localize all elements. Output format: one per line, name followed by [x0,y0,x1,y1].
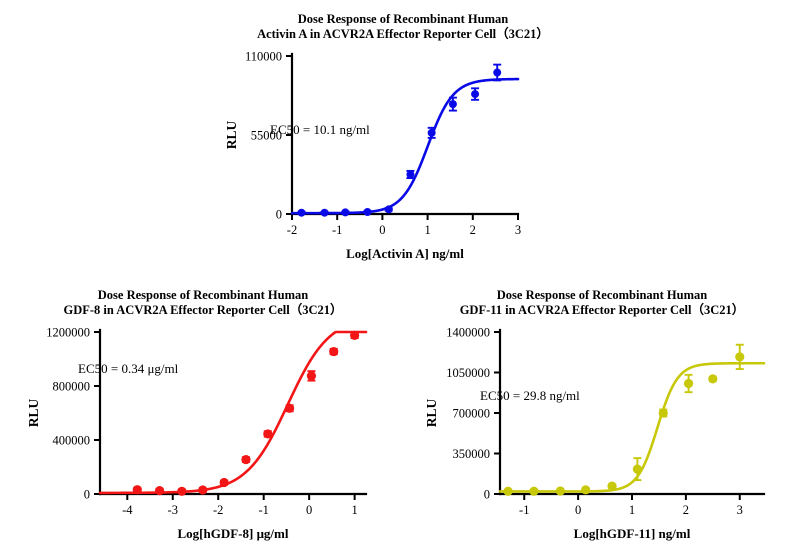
x-tick-label: -4 [122,503,133,517]
data-point [529,487,538,496]
plot-activin-a: 055000110000-2-10123Log[Activin A] ng/ml… [218,42,588,262]
data-point [155,486,164,495]
x-tick-label: 1 [352,503,358,517]
ec50-annotation: EC50 = 10.1 ng/ml [270,122,370,137]
title-line-2: Activin A in ACVR2A Effector Reporter Ce… [218,27,588,42]
title-line-2: GDF-11 in ACVR2A Effector Reporter Cell（… [412,303,792,318]
x-tick-label: -2 [213,503,223,517]
y-tick-label: 0 [484,488,490,502]
data-point [659,408,668,417]
x-tick-label: -1 [258,503,268,517]
data-point [581,485,590,494]
data-point [406,171,414,179]
y-axis-title: RLU [224,121,239,150]
x-tick-label: 0 [379,223,385,237]
fit-curve [292,79,518,213]
y-tick-label: 1200000 [46,326,90,340]
panel-gdf-8-title: Dose Response of Recombinant Human GDF-8… [18,288,388,318]
data-point [633,465,642,474]
y-tick-label: 700000 [453,407,491,421]
y-tick-label: 350000 [453,447,491,461]
panel-activin-a: Dose Response of Recombinant Human Activ… [218,12,588,262]
fit-curve [500,363,764,491]
x-axis-title: Log[hGDF-11] ng/ml [574,526,691,541]
data-point [556,486,565,495]
panel-gdf-8: Dose Response of Recombinant Human GDF-8… [18,288,388,548]
y-axis-title: RLU [424,399,439,428]
data-point [503,487,512,496]
x-axis-title: Log[hGDF-8] μg/ml [177,526,288,541]
x-tick-label: 3 [737,503,743,517]
data-point [198,485,207,494]
data-point [329,347,338,356]
axes-activin-a: 055000110000-2-10123Log[Activin A] ng/ml… [224,50,521,262]
data-point [297,209,305,217]
ec50-annotation: EC50 = 29.8 ng/ml [480,388,580,403]
ec50-annotation: EC50 = 0.34 μg/ml [78,361,179,376]
panel-gdf-11-title: Dose Response of Recombinant Human GDF-1… [412,288,792,318]
x-tick-label: 0 [306,503,312,517]
title-line-1: Dose Response of Recombinant Human [18,288,388,303]
y-tick-label: 110000 [245,50,282,64]
panel-activin-a-title: Dose Response of Recombinant Human Activ… [218,12,588,42]
y-axis-title: RLU [26,399,41,428]
y-tick-label: 1400000 [446,326,490,340]
x-tick-label: -2 [287,223,297,237]
data-point [607,482,616,491]
title-line-2: GDF-8 in ACVR2A Effector Reporter Cell（3… [18,303,388,318]
y-tick-label: 1050000 [446,366,490,380]
panel-gdf-11: Dose Response of Recombinant Human GDF-1… [412,288,792,548]
data-point [385,205,393,213]
data-point [220,478,229,487]
plot-gdf-8: 04000008000001200000-4-3-2-101Log[hGDF-8… [18,318,388,548]
y-tick-label: 800000 [53,380,91,394]
fit-curve [100,332,366,493]
axes-gdf-11: 035000070000010500001400000-10123Log[hGD… [424,326,764,542]
plot-svg-gdf-11: 035000070000010500001400000-10123Log[hGD… [412,318,792,548]
title-line-1: Dose Response of Recombinant Human [218,12,588,27]
data-point [341,208,349,216]
x-tick-label: 3 [515,223,521,237]
data-point [177,487,186,496]
data-point [471,90,479,98]
y-tick-label: 0 [276,208,282,222]
x-tick-label: 1 [424,223,430,237]
data-point [350,331,359,340]
x-tick-label: 0 [575,503,581,517]
data-point [363,208,371,216]
plot-gdf-11: 035000070000010500001400000-10123Log[hGD… [412,318,792,548]
data-point [493,69,501,77]
x-tick-label: -3 [168,503,178,517]
data-point [428,129,436,137]
data-point [321,209,329,217]
data-point [449,100,457,108]
x-tick-label: 1 [629,503,635,517]
data-point [241,455,250,464]
title-line-1: Dose Response of Recombinant Human [412,288,792,303]
data-point [708,374,717,383]
data-point [684,379,693,388]
x-tick-label: 2 [470,223,476,237]
x-tick-label: -1 [332,223,342,237]
y-tick-label: 400000 [53,434,91,448]
data-point [735,352,744,361]
data-point [285,404,294,413]
y-tick-label: 0 [84,488,90,502]
data-point [307,371,316,380]
data-point [263,429,272,438]
data-point [133,485,142,494]
plot-svg-activin-a: 055000110000-2-10123Log[Activin A] ng/ml… [218,42,588,262]
plot-svg-gdf-8: 04000008000001200000-4-3-2-101Log[hGDF-8… [18,318,388,548]
x-tick-label: -1 [519,503,529,517]
x-axis-title: Log[Activin A] ng/ml [346,246,464,261]
axes-gdf-8: 04000008000001200000-4-3-2-101Log[hGDF-8… [26,326,366,542]
x-tick-label: 2 [683,503,689,517]
